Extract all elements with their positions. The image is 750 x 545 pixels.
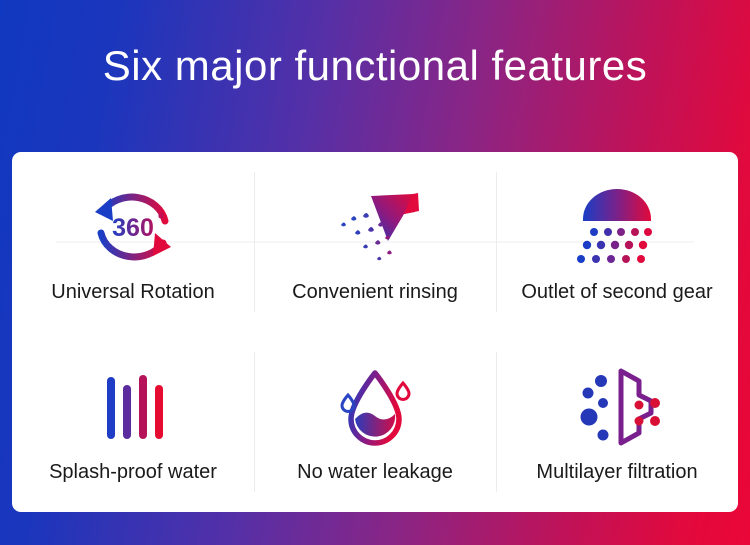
rotation-degree-symbol: ° — [158, 210, 165, 229]
features-card: 360 ° Universal Rotation — [12, 152, 738, 512]
feature-label: Universal Rotation — [51, 279, 214, 305]
feature-outlet-second-gear[interactable]: Outlet of second gear — [496, 152, 738, 332]
filter-membrane-icon — [567, 359, 667, 455]
feature-splash-proof-water[interactable]: Splash-proof water — [12, 332, 254, 512]
shower-head-dome-icon — [567, 179, 667, 275]
feature-multilayer-filtration[interactable]: Multilayer filtration — [496, 332, 738, 512]
feature-label: Convenient rinsing — [292, 279, 458, 305]
rotation-360-label: 360 — [112, 214, 154, 242]
feature-label: Splash-proof water — [49, 459, 217, 485]
features-row-top: 360 ° Universal Rotation — [12, 152, 738, 332]
handheld-shower-spray-icon — [325, 179, 425, 275]
features-row-bottom: Splash-proof water — [12, 332, 738, 512]
feature-convenient-rinsing[interactable]: Convenient rinsing — [254, 152, 496, 332]
rotation-360-icon: 360 ° — [87, 179, 179, 275]
feature-label: Outlet of second gear — [521, 279, 712, 305]
feature-label: Multilayer filtration — [536, 459, 697, 485]
feature-no-water-leakage[interactable]: No water leakage — [254, 332, 496, 512]
promo-banner: Six major functional features — [0, 0, 750, 545]
page-title: Six major functional features — [0, 40, 750, 92]
water-droplet-icon — [329, 359, 421, 455]
feature-label: No water leakage — [297, 459, 453, 485]
water-bars-icon — [87, 359, 179, 455]
feature-universal-rotation[interactable]: 360 ° Universal Rotation — [12, 152, 254, 332]
